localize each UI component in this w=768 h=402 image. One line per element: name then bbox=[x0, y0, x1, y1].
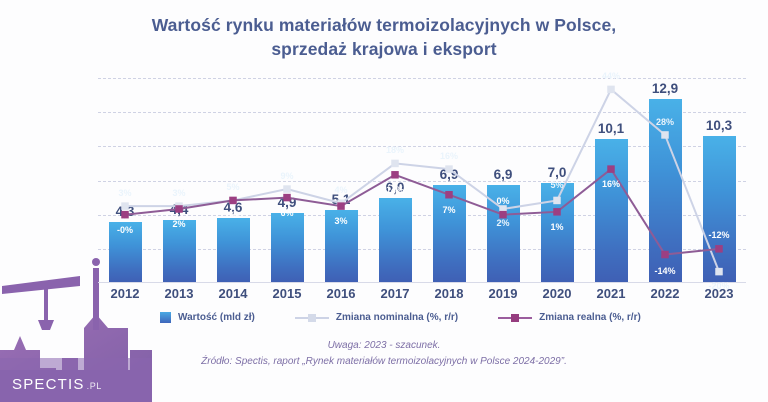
x-tick-2016: 2016 bbox=[314, 286, 368, 301]
x-tick-2014: 2014 bbox=[206, 286, 260, 301]
x-tick-2020: 2020 bbox=[530, 286, 584, 301]
legend-line-swatch-icon bbox=[498, 314, 532, 322]
real-marker[interactable] bbox=[553, 208, 561, 216]
real-marker[interactable] bbox=[175, 205, 183, 213]
logo-text: SPECTIS bbox=[12, 376, 85, 393]
x-tick-2018: 2018 bbox=[422, 286, 476, 301]
chart-canvas: SPECTIS.PL Wartość rynku materiałów term… bbox=[0, 0, 768, 402]
legend-label: Zmiana realna (%, r/r) bbox=[539, 312, 641, 323]
chart-legend: Wartość (mld zł)Zmiana nominalna (%, r/r… bbox=[98, 312, 698, 323]
real-marker[interactable] bbox=[229, 197, 237, 205]
x-tick-2023: 2023 bbox=[692, 286, 746, 301]
real-marker[interactable] bbox=[391, 171, 399, 179]
chart-title: Wartość rynku materiałów termoizolacyjny… bbox=[0, 14, 768, 61]
chart-title-line-2: sprzedaż krajowa i eksport bbox=[70, 38, 698, 62]
real-marker[interactable] bbox=[445, 191, 453, 199]
nominal-line bbox=[125, 89, 719, 271]
x-tick-2012: 2012 bbox=[98, 286, 152, 301]
nominal-marker[interactable] bbox=[391, 160, 399, 168]
x-axis-labels: 2012201320142015201620172018201920202021… bbox=[98, 286, 746, 301]
legend-label: Wartość (mld zł) bbox=[178, 312, 255, 323]
real-marker[interactable] bbox=[499, 211, 507, 219]
x-tick-2022: 2022 bbox=[638, 286, 692, 301]
real-marker[interactable] bbox=[607, 165, 615, 173]
nominal-marker[interactable] bbox=[553, 197, 561, 205]
real-line bbox=[125, 169, 719, 254]
nominal-marker[interactable] bbox=[715, 268, 723, 276]
legend-item-0[interactable]: Wartość (mld zł) bbox=[160, 312, 255, 323]
legend-label: Zmiana nominalna (%, r/r) bbox=[336, 312, 458, 323]
x-tick-2019: 2019 bbox=[476, 286, 530, 301]
nominal-marker[interactable] bbox=[661, 131, 669, 139]
nominal-marker[interactable] bbox=[445, 165, 453, 173]
chart-footnotes: Uwaga: 2023 - szacunek. Źródło: Spectis,… bbox=[0, 338, 768, 369]
x-axis-line bbox=[98, 282, 746, 283]
legend-item-1[interactable]: Zmiana nominalna (%, r/r) bbox=[295, 312, 458, 323]
nominal-marker[interactable] bbox=[607, 86, 615, 94]
legend-bar-swatch-icon bbox=[160, 312, 171, 323]
real-marker[interactable] bbox=[121, 211, 129, 219]
x-tick-2017: 2017 bbox=[368, 286, 422, 301]
plot-area: 4,34,44,64,95,16,06,96,97,010,112,910,3 … bbox=[98, 78, 746, 283]
real-marker[interactable] bbox=[661, 251, 669, 259]
chart-title-line-1: Wartość rynku materiałów termoizolacyjny… bbox=[152, 15, 617, 35]
spectis-logo: SPECTIS.PL bbox=[12, 376, 102, 393]
real-marker[interactable] bbox=[715, 245, 723, 253]
real-marker[interactable] bbox=[283, 194, 291, 202]
logo-suffix: .PL bbox=[87, 381, 102, 391]
nominal-marker[interactable] bbox=[283, 185, 291, 193]
x-tick-2013: 2013 bbox=[152, 286, 206, 301]
footnote-note: Uwaga: 2023 - szacunek. bbox=[328, 340, 441, 351]
footnote-source: Źródło: Spectis, raport „Rynek materiałó… bbox=[0, 354, 768, 370]
line-series-layer bbox=[98, 78, 746, 283]
x-tick-2015: 2015 bbox=[260, 286, 314, 301]
legend-line-swatch-icon bbox=[295, 314, 329, 322]
legend-item-2[interactable]: Zmiana realna (%, r/r) bbox=[498, 312, 641, 323]
real-marker[interactable] bbox=[337, 202, 345, 210]
nominal-marker[interactable] bbox=[121, 202, 129, 210]
x-tick-2021: 2021 bbox=[584, 286, 638, 301]
